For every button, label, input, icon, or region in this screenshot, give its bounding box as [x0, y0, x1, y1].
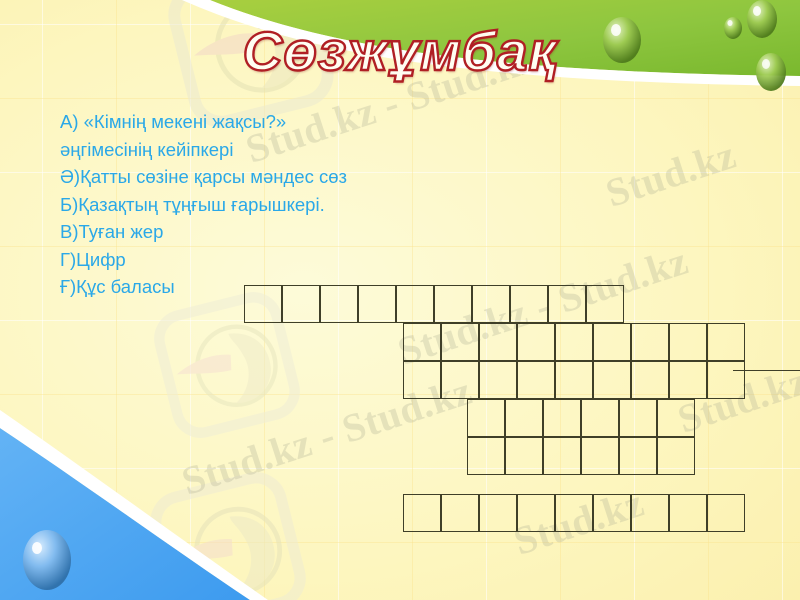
crossword-cell[interactable]: [441, 494, 479, 532]
crossword-cell[interactable]: [517, 361, 555, 399]
crossword-cell[interactable]: [619, 437, 657, 475]
crossword-cell[interactable]: [244, 285, 282, 323]
crossword-cell[interactable]: [555, 361, 593, 399]
crossword-cell[interactable]: [505, 437, 543, 475]
crossword-cell[interactable]: [505, 399, 543, 437]
crossword-cell[interactable]: [479, 494, 517, 532]
crossword-cell[interactable]: [657, 399, 695, 437]
crossword-cell[interactable]: [555, 494, 593, 532]
crossword-cell[interactable]: [586, 285, 624, 323]
crossword-cell[interactable]: [593, 494, 631, 532]
row-3-extension: [733, 370, 800, 371]
crossword-cell[interactable]: [434, 285, 472, 323]
crossword-cell[interactable]: [358, 285, 396, 323]
crossword-cell[interactable]: [479, 361, 517, 399]
crossword-cell[interactable]: [593, 323, 631, 361]
slide-canvas: Stud.kz Stud.kz - Stud.kz Stud.kz Stud.k…: [0, 0, 800, 600]
crossword-cell[interactable]: [403, 323, 441, 361]
crossword-cell[interactable]: [403, 494, 441, 532]
crossword-cell[interactable]: [320, 285, 358, 323]
crossword-cell[interactable]: [467, 399, 505, 437]
crossword-cell[interactable]: [631, 361, 669, 399]
crossword-cell[interactable]: [479, 323, 517, 361]
crossword-cell[interactable]: [517, 323, 555, 361]
crossword-cell[interactable]: [619, 399, 657, 437]
crossword-cell[interactable]: [707, 494, 745, 532]
crossword-cell[interactable]: [467, 437, 505, 475]
crossword-cell[interactable]: [510, 285, 548, 323]
crossword-cell[interactable]: [555, 323, 593, 361]
crossword-cell[interactable]: [581, 437, 619, 475]
crossword-grid: [0, 0, 800, 600]
crossword-cell[interactable]: [282, 285, 320, 323]
crossword-cell[interactable]: [581, 399, 619, 437]
crossword-cell[interactable]: [472, 285, 510, 323]
crossword-cell[interactable]: [403, 361, 441, 399]
crossword-cell[interactable]: [593, 361, 631, 399]
crossword-cell[interactable]: [657, 437, 695, 475]
crossword-cell[interactable]: [631, 323, 669, 361]
crossword-cell[interactable]: [441, 323, 479, 361]
crossword-cell[interactable]: [396, 285, 434, 323]
crossword-cell[interactable]: [707, 361, 745, 399]
crossword-cell[interactable]: [543, 437, 581, 475]
crossword-cell[interactable]: [517, 494, 555, 532]
crossword-cell[interactable]: [669, 323, 707, 361]
crossword-cell[interactable]: [543, 399, 581, 437]
crossword-cell[interactable]: [669, 494, 707, 532]
crossword-cell[interactable]: [548, 285, 586, 323]
crossword-cell[interactable]: [441, 361, 479, 399]
crossword-cell[interactable]: [631, 494, 669, 532]
crossword-cell[interactable]: [707, 323, 745, 361]
crossword-cell[interactable]: [669, 361, 707, 399]
